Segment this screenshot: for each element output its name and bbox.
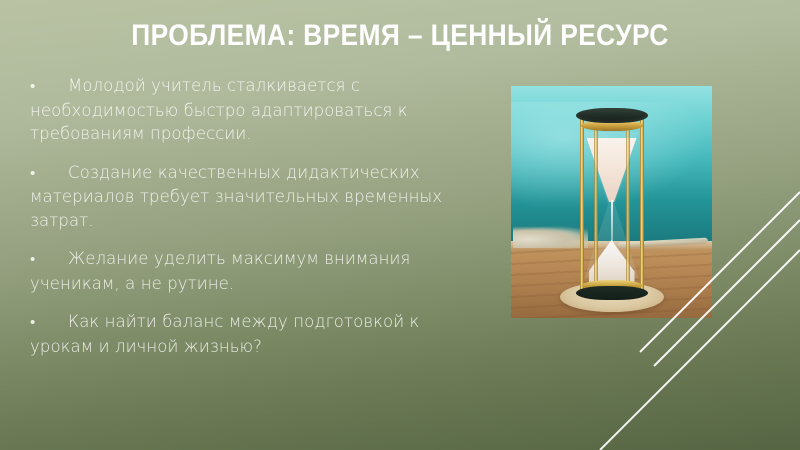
list-item: •Как найти баланс между подготовкой к ур… xyxy=(30,310,485,358)
bullet-marker-icon: • xyxy=(30,311,68,335)
hourglass-post xyxy=(594,118,598,292)
list-item: •Молодой учитель сталкивается с необходи… xyxy=(30,74,485,146)
hourglass-post xyxy=(626,118,630,292)
list-item: •Желание уделить максимум внимания учени… xyxy=(30,247,485,295)
hourglass-image xyxy=(511,86,712,318)
list-item-text: Молодой учитель сталкивается с необходим… xyxy=(30,76,408,143)
slide: ПРОБЛЕМА: ВРЕМЯ – ЦЕННЫЙ РЕСУРС •Молодой… xyxy=(0,0,800,450)
bullet-marker-icon: • xyxy=(30,75,68,99)
hourglass-icon xyxy=(574,108,650,300)
hourglass-top-cap xyxy=(576,108,648,123)
list-item: •Создание качественных дидактических мат… xyxy=(30,161,485,233)
list-item-text: Желание уделить максимум внимания ученик… xyxy=(30,249,410,293)
bullet-list: •Молодой учитель сталкивается с необходи… xyxy=(30,74,485,373)
list-item-text: Как найти баланс между подготовкой к уро… xyxy=(30,312,419,356)
list-item-text: Создание качественных дидактических мате… xyxy=(30,163,442,230)
page-title: ПРОБЛЕМА: ВРЕМЯ – ЦЕННЫЙ РЕСУРС xyxy=(48,18,752,54)
hourglass-bottom-cap xyxy=(576,286,648,300)
bullet-marker-icon: • xyxy=(30,248,68,272)
hourglass-post xyxy=(640,118,644,292)
hourglass-post xyxy=(580,118,584,292)
bullet-marker-icon: • xyxy=(30,162,68,186)
